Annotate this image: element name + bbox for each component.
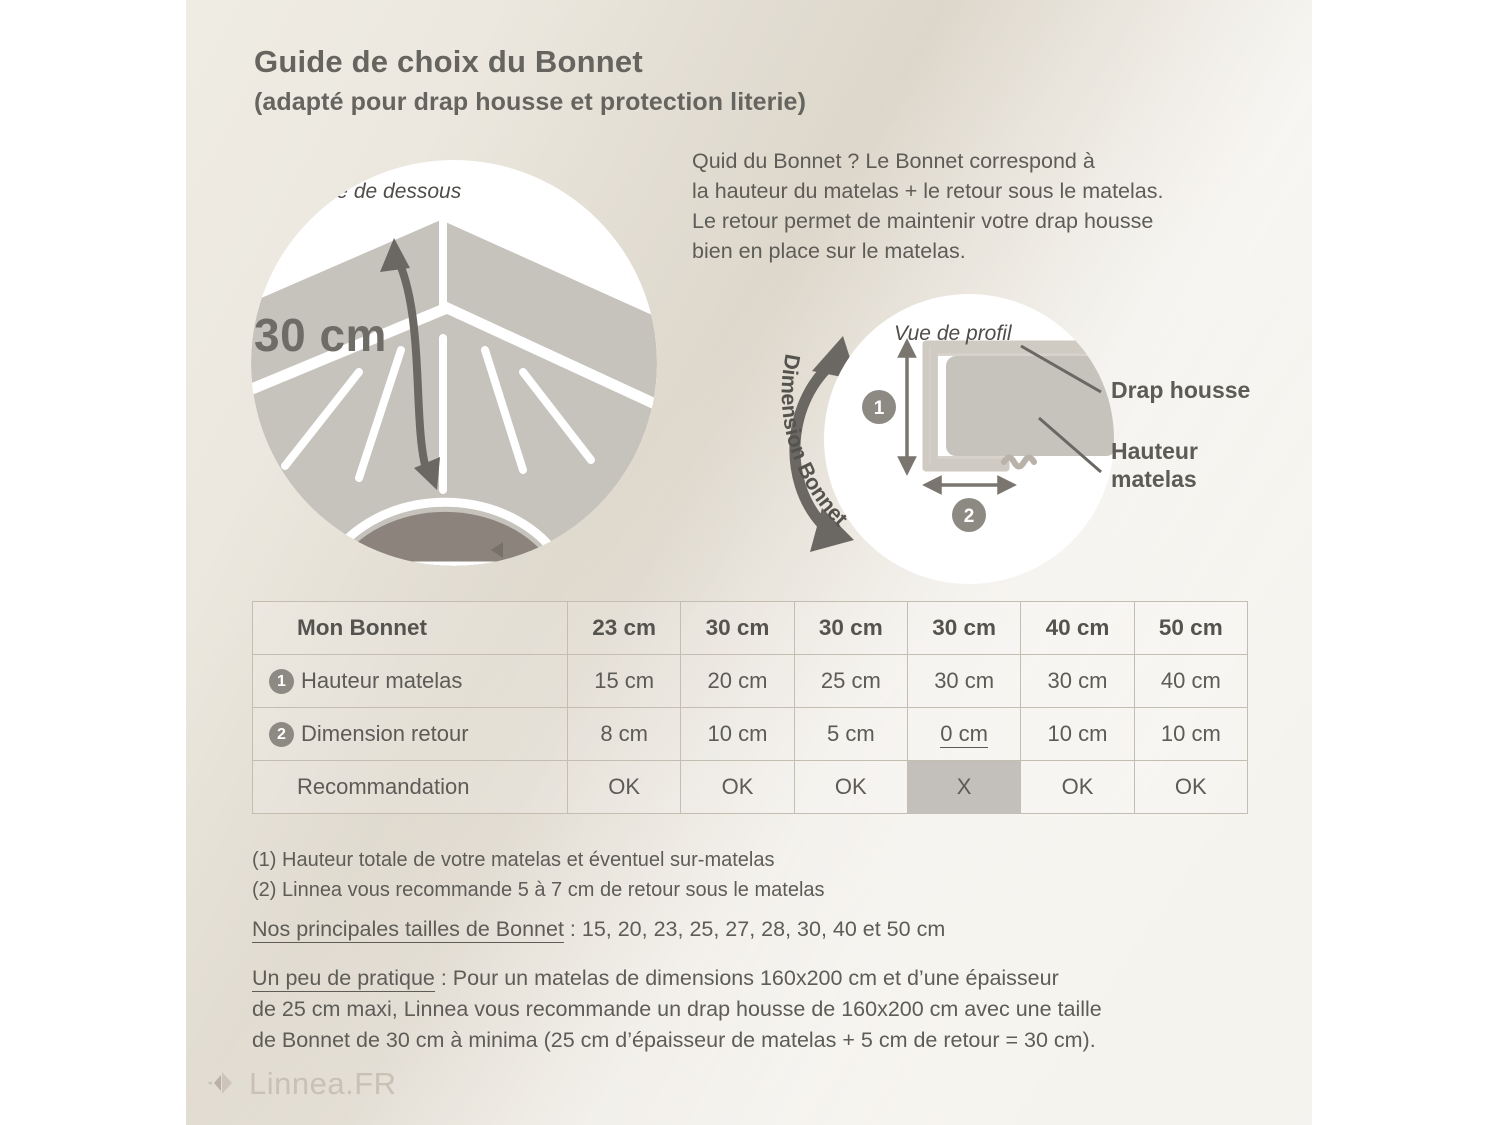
cell-retour-2: 5 cm [794,708,907,761]
bonnet-table: Mon Bonnet 23 cm 30 cm 30 cm 30 cm 40 cm… [252,601,1248,814]
cell-mon-bonnet-5: 50 cm [1134,602,1247,655]
page-title: Guide de choix du Bonnet [254,44,643,80]
cell-mon-bonnet-0: 23 cm [568,602,681,655]
linnea-diamond-icon [206,1069,240,1099]
row-header-dimension-retour-label: Dimension retour [301,721,469,746]
logo: Linnea.FR [206,1066,397,1102]
intro-line-1: Quid du Bonnet ? Le Bonnet correspond à [692,146,1292,176]
cell-hauteur-2: 25 cm [794,655,907,708]
cell-reco-4: OK [1021,761,1134,814]
row-header-mon-bonnet: Mon Bonnet [253,602,568,655]
cell-mon-bonnet-1: 30 cm [681,602,794,655]
cell-reco-3: X [907,761,1020,814]
practique-block: Un peu de pratique : Pour un matelas de … [252,963,1102,1056]
callout-drap-housse: Drap housse [1111,376,1250,404]
badge-1-icon: 1 [269,669,294,694]
badge-2-text: 2 [964,506,975,527]
cell-mon-bonnet-2: 30 cm [794,602,907,655]
profile-view-label: Vue de profil [894,322,1012,346]
cell-mon-bonnet-3: 30 cm [907,602,1020,655]
cell-hauteur-4: 30 cm [1021,655,1134,708]
bottom-view-artwork [251,160,657,566]
cell-reco-0: OK [568,761,681,814]
table-row-recommandation: Recommandation OK OK OK X OK OK [253,761,1248,814]
sizes-line: Nos principales tailles de Bonnet : 15, … [252,917,945,942]
row-header-hauteur-matelas: 1Hauteur matelas [253,655,568,708]
footnote-2: (2) Linnea vous recommande 5 à 7 cm de r… [252,875,825,905]
infographic-root: Guide de choix du Bonnet (adapté pour dr… [0,0,1500,1125]
practique-label: Un peu de pratique [252,966,435,992]
cell-hauteur-5: 40 cm [1134,655,1247,708]
diagram-profile-view: 1 2 Vue de profil [824,294,1114,584]
intro-paragraph: Quid du Bonnet ? Le Bonnet correspond à … [692,146,1292,266]
table-row-hauteur-matelas: 1Hauteur matelas 15 cm 20 cm 25 cm 30 cm… [253,655,1248,708]
sizes-value: : 15, 20, 23, 25, 27, 28, 30, 40 et 50 c… [564,917,945,941]
table-row-mon-bonnet: Mon Bonnet 23 cm 30 cm 30 cm 30 cm 40 cm… [253,602,1248,655]
footnotes: (1) Hauteur totale de votre matelas et é… [252,845,825,905]
callout-hauteur-line-1: Hauteur [1111,438,1198,464]
cell-retour-3-value: 0 cm [940,721,988,748]
content-layer: Guide de choix du Bonnet (adapté pour dr… [186,0,1312,1125]
badge-1-text: 1 [874,398,885,419]
cell-retour-1: 10 cm [681,708,794,761]
sizes-label: Nos principales tailles de Bonnet [252,917,564,943]
cell-reco-1: OK [681,761,794,814]
measure-30cm-label: 30 cm [254,308,387,362]
bottom-view-label: Vue de dessous [311,180,461,204]
practique-line-3: de Bonnet de 30 cm à minima (25 cm d’épa… [252,1025,1102,1056]
callout-hauteur-matelas: Hauteur matelas [1111,437,1198,493]
cell-mon-bonnet-4: 40 cm [1021,602,1134,655]
logo-text: Linnea.FR [249,1066,397,1102]
intro-line-4: bien en place sur le matelas. [692,236,1292,266]
footnote-1: (1) Hauteur totale de votre matelas et é… [252,845,825,875]
bonnet-table-wrapper: Mon Bonnet 23 cm 30 cm 30 cm 30 cm 40 cm… [252,601,1248,814]
cell-reco-5: OK [1134,761,1247,814]
cell-retour-3: 0 cm [907,708,1020,761]
row-header-recommandation: Recommandation [253,761,568,814]
cell-retour-4: 10 cm [1021,708,1134,761]
intro-line-3: Le retour permet de maintenir votre drap… [692,206,1292,236]
badge-2-icon: 2 [269,722,294,747]
table-row-dimension-retour: 2Dimension retour 8 cm 10 cm 5 cm 0 cm 1… [253,708,1248,761]
practique-line-1: Un peu de pratique : Pour un matelas de … [252,963,1102,994]
row-header-hauteur-matelas-label: Hauteur matelas [301,668,462,693]
intro-line-2: la hauteur du matelas + le retour sous l… [692,176,1292,206]
practique-line-1-text: : Pour un matelas de dimensions 160x200 … [435,966,1059,990]
callout-hauteur-line-2: matelas [1111,466,1197,492]
diagram-bottom-view: Vue de dessous [251,160,657,566]
cell-hauteur-0: 15 cm [568,655,681,708]
cell-hauteur-1: 20 cm [681,655,794,708]
cell-reco-2: OK [794,761,907,814]
page-subtitle: (adapté pour drap housse et protection l… [254,88,806,117]
practique-line-2: de 25 cm maxi, Linnea vous recommande un… [252,994,1102,1025]
cell-retour-0: 8 cm [568,708,681,761]
row-header-dimension-retour: 2Dimension retour [253,708,568,761]
cell-retour-5: 10 cm [1134,708,1247,761]
cell-hauteur-3: 30 cm [907,655,1020,708]
